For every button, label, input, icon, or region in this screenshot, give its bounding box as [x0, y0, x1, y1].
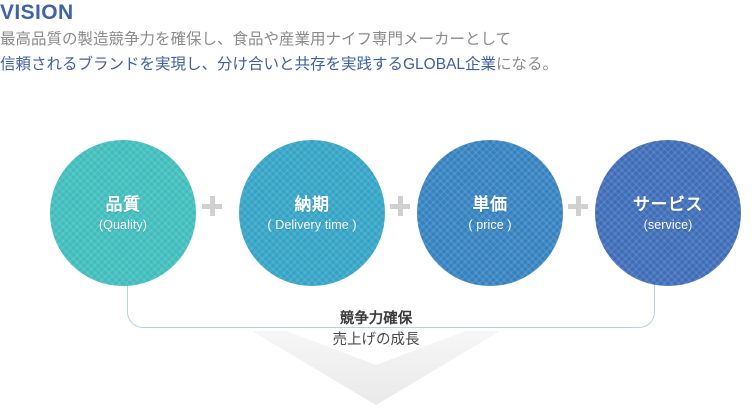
- factor-label-service-en: (service): [644, 217, 693, 233]
- factor-label-price-en: ( price ): [468, 217, 511, 233]
- plus-icon: [202, 196, 222, 216]
- factor-circle-price[interactable]: 単価 ( price ): [417, 140, 563, 286]
- plus-icon: [568, 196, 588, 216]
- factor-label-service-jp: サービス: [633, 194, 703, 215]
- factor-label-quality-jp: 品質: [106, 194, 141, 215]
- outcome-line-1: 競争力確保: [252, 309, 500, 330]
- vision-diagram: 競争力確保 売上げの成長 品質 (Quality) 納期 ( Delivery …: [0, 0, 752, 411]
- factor-circle-service[interactable]: サービス (service): [595, 140, 741, 286]
- factor-label-quality-en: (Quality): [99, 217, 147, 233]
- outcome-line-2: 売上げの成長: [252, 330, 500, 351]
- factor-label-price-jp: 単価: [473, 194, 508, 215]
- factor-label-delivery-en: ( Delivery time ): [267, 217, 356, 233]
- factor-circle-row: 品質 (Quality) 納期 ( Delivery time ) 単価 ( p…: [0, 140, 752, 286]
- outcome-caption: 競争力確保 売上げの成長: [252, 309, 500, 351]
- factor-circle-quality[interactable]: 品質 (Quality): [50, 140, 196, 286]
- factor-circle-delivery[interactable]: 納期 ( Delivery time ): [239, 140, 385, 286]
- factor-label-delivery-jp: 納期: [295, 194, 330, 215]
- plus-icon: [390, 196, 410, 216]
